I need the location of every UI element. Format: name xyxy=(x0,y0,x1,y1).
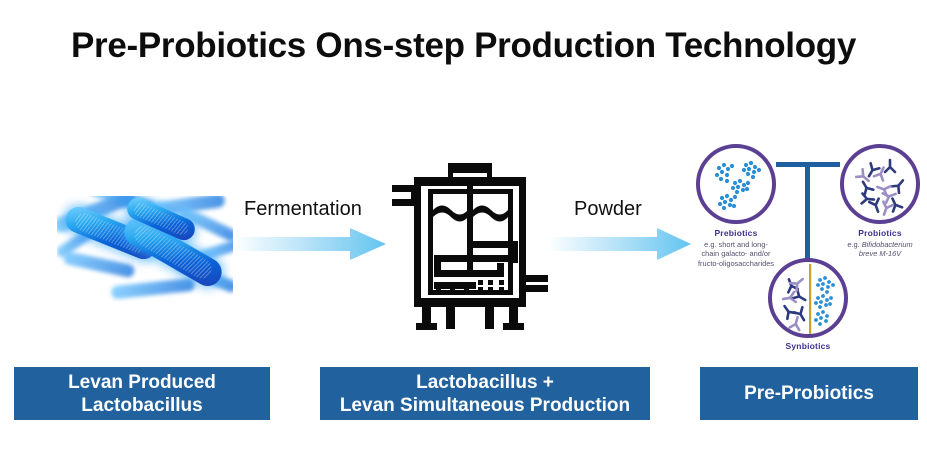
prebiotics-desc-line-2: chain galacto- and/or xyxy=(678,249,794,258)
arrow-1-label: Fermentation xyxy=(244,198,362,221)
lactobacillus-photo xyxy=(57,196,233,304)
stage-2-caption-line-1: Lactobacillus + xyxy=(340,371,630,394)
page-title: Pre-Probiotics Ons-step Production Techn… xyxy=(0,26,927,66)
slide-canvas: Pre-Probiotics Ons-step Production Techn… xyxy=(0,0,927,460)
probiotics-desc-prefix: e.g. xyxy=(847,240,861,249)
arrow-2-label: Powder xyxy=(574,198,642,221)
arrow-2-icon xyxy=(551,228,691,260)
prebiotics-circle xyxy=(696,144,776,224)
synbiotics-diagram: Prebiotics e.g. short and long- chain ga… xyxy=(688,140,927,355)
stage-1-caption-line-1: Levan Produced xyxy=(68,371,216,394)
stage-2-caption-box: Lactobacillus + Levan Simultaneous Produ… xyxy=(320,367,650,420)
prebiotics-desc-line-1: e.g. short and long- xyxy=(678,240,794,249)
probiotics-circle xyxy=(840,144,920,224)
stage-3-caption-line-1: Pre-Probiotics xyxy=(744,382,874,405)
stage-1-caption-line-2: Lactobacillus xyxy=(68,394,216,417)
fermentation-tank-icon xyxy=(392,163,548,335)
arrow-1-icon xyxy=(238,228,386,260)
synbiotics-circle xyxy=(768,258,848,338)
stage-1-caption-box: Levan Produced Lactobacillus xyxy=(14,367,270,420)
probiotics-title: Probiotics xyxy=(824,228,927,238)
stage-3-caption-box: Pre-Probiotics xyxy=(700,367,918,420)
prebiotics-title: Prebiotics xyxy=(680,228,792,238)
probiotics-desc-species-2: breve M-16V xyxy=(859,249,901,258)
stage-2-caption-line-2: Levan Simultaneous Production xyxy=(340,394,630,417)
probiotics-description: e.g. Bifidobacterium breve M-16V xyxy=(822,240,927,259)
synbiotics-title: Synbiotics xyxy=(752,341,864,351)
probiotics-desc-species-1: Bifidobacterium xyxy=(862,240,913,249)
